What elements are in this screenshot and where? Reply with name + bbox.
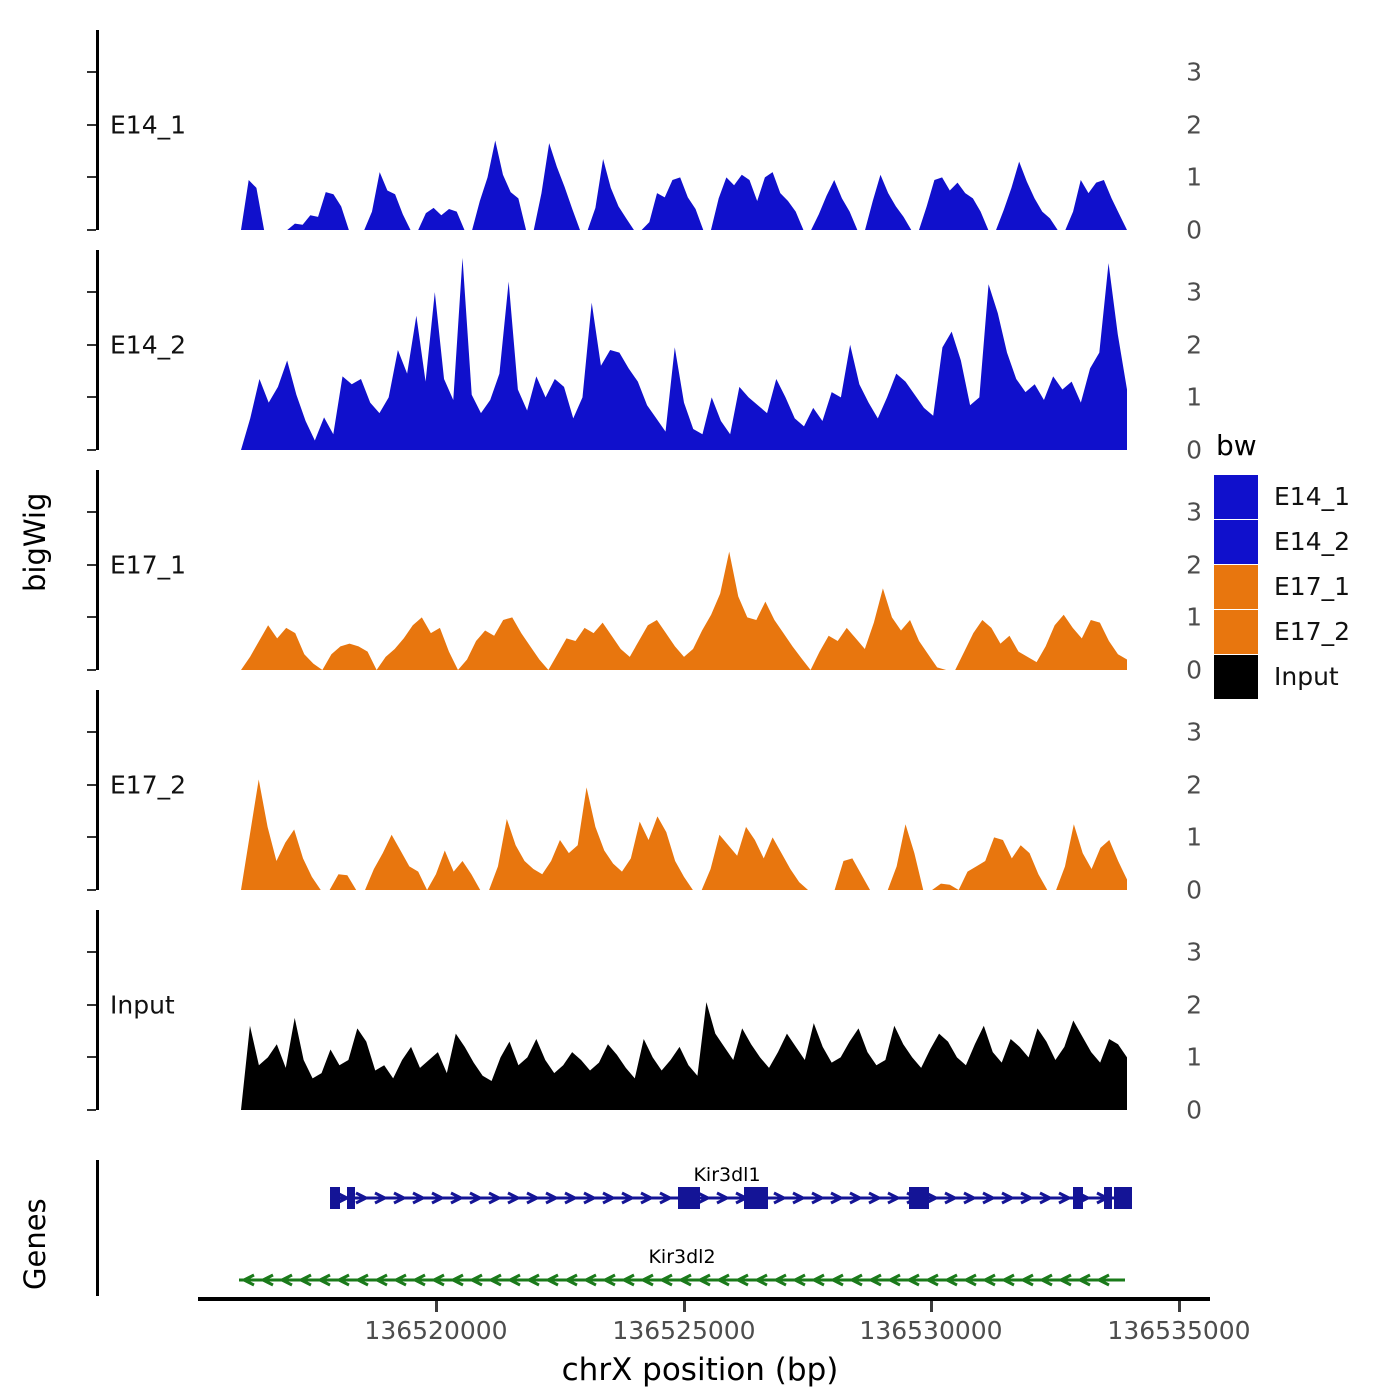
y-tick [87, 784, 96, 786]
exon-block [1114, 1187, 1132, 1209]
legend-item-label: Input [1274, 662, 1339, 691]
exon-block [1073, 1187, 1083, 1209]
x-tick [1178, 1301, 1181, 1312]
genes-axis-line [96, 1160, 99, 1296]
x-tick-label: 136535000 [1107, 1316, 1250, 1345]
y-tick [87, 291, 96, 293]
coverage-area-input [241, 1002, 1127, 1110]
y-tick [87, 731, 96, 733]
y-tick [87, 449, 96, 451]
legend-color-swatch [1214, 565, 1258, 609]
y-tick [87, 71, 96, 73]
track-panel-e17_1: 0123E17_1 [96, 470, 1216, 670]
legend-color-swatch [1214, 520, 1258, 564]
y-tick [87, 836, 96, 838]
y-tick [87, 396, 96, 398]
x-axis-title: chrX position (bp) [0, 1352, 1400, 1388]
legend: bw E14_1E14_2E17_1E17_2Input [1214, 432, 1394, 699]
x-tick-label: 136525000 [612, 1316, 755, 1345]
exon-block [744, 1187, 768, 1209]
figure-root: bigWig Genes 0123E14_10123E14_20123E17_1… [0, 0, 1400, 1400]
y-tick [87, 669, 96, 671]
gene-kir3dl1[interactable] [330, 1187, 1132, 1209]
y-tick [87, 344, 96, 346]
exon-block [1104, 1187, 1112, 1209]
y-tick [87, 511, 96, 513]
x-tick-label: 136530000 [859, 1316, 1002, 1345]
genes-body: Kir3dl1Kir3dl2 [96, 1160, 1216, 1304]
gene-label-kir3dl2: Kir3dl2 [648, 1246, 715, 1268]
plot-area-e14_1 [99, 30, 1216, 230]
x-axis-line [198, 1297, 1210, 1301]
plot-area-e17_2 [99, 690, 1216, 890]
legend-color-swatch [1214, 475, 1258, 519]
plot-area-e14_2 [99, 250, 1216, 450]
gene-kir3dl2[interactable] [239, 1275, 1125, 1285]
plot-area-input [99, 910, 1216, 1110]
legend-item-label: E17_1 [1274, 572, 1350, 601]
track-panel-e14_1: 0123E14_1 [96, 30, 1216, 230]
genes-axis-group-label: Genes [18, 1198, 52, 1290]
track-panel-e14_2: 0123E14_2 [96, 250, 1216, 450]
x-tick [930, 1301, 933, 1312]
y-tick [87, 1004, 96, 1006]
legend-items: E14_1E14_2E17_1E17_2Input [1214, 474, 1394, 699]
gene-models-svg [96, 1160, 1216, 1300]
track-panel-input: 0123Input [96, 910, 1216, 1110]
y-tick [87, 1056, 96, 1058]
legend-title: bw [1216, 432, 1394, 460]
y-tick [87, 951, 96, 953]
y-tick [87, 229, 96, 231]
coverage-area-e14_2 [241, 258, 1127, 450]
x-tick [435, 1301, 438, 1312]
legend-item-input[interactable]: Input [1214, 654, 1394, 699]
y-axis-group-label: bigWig [18, 493, 52, 592]
y-tick [87, 1109, 96, 1111]
legend-item-label: E14_1 [1274, 482, 1350, 511]
genes-panel: Kir3dl1Kir3dl2 [96, 1160, 1216, 1300]
legend-item-e14_2[interactable]: E14_2 [1214, 519, 1394, 564]
exon-block [347, 1187, 355, 1209]
legend-item-e17_2[interactable]: E17_2 [1214, 609, 1394, 654]
legend-color-swatch [1214, 610, 1258, 654]
exon-block [330, 1187, 340, 1209]
exon-block [678, 1187, 700, 1209]
gene-label-kir3dl1: Kir3dl1 [693, 1164, 760, 1186]
coverage-area-e17_2 [241, 779, 1127, 890]
exon-block [909, 1187, 929, 1209]
legend-item-label: E14_2 [1274, 527, 1350, 556]
legend-item-e17_1[interactable]: E17_1 [1214, 564, 1394, 609]
x-tick-label: 136520000 [364, 1316, 507, 1345]
legend-color-swatch [1214, 655, 1258, 699]
track-panel-e17_2: 0123E17_2 [96, 690, 1216, 890]
coverage-area-e14_1 [241, 141, 1127, 230]
legend-item-e14_1[interactable]: E14_1 [1214, 474, 1394, 519]
plot-area-e17_1 [99, 470, 1216, 670]
y-tick [87, 124, 96, 126]
x-tick [683, 1301, 686, 1312]
legend-item-label: E17_2 [1274, 617, 1350, 646]
coverage-area-e17_1 [241, 552, 1127, 670]
y-tick [87, 616, 96, 618]
y-tick [87, 564, 96, 566]
y-tick [87, 176, 96, 178]
y-tick [87, 889, 96, 891]
